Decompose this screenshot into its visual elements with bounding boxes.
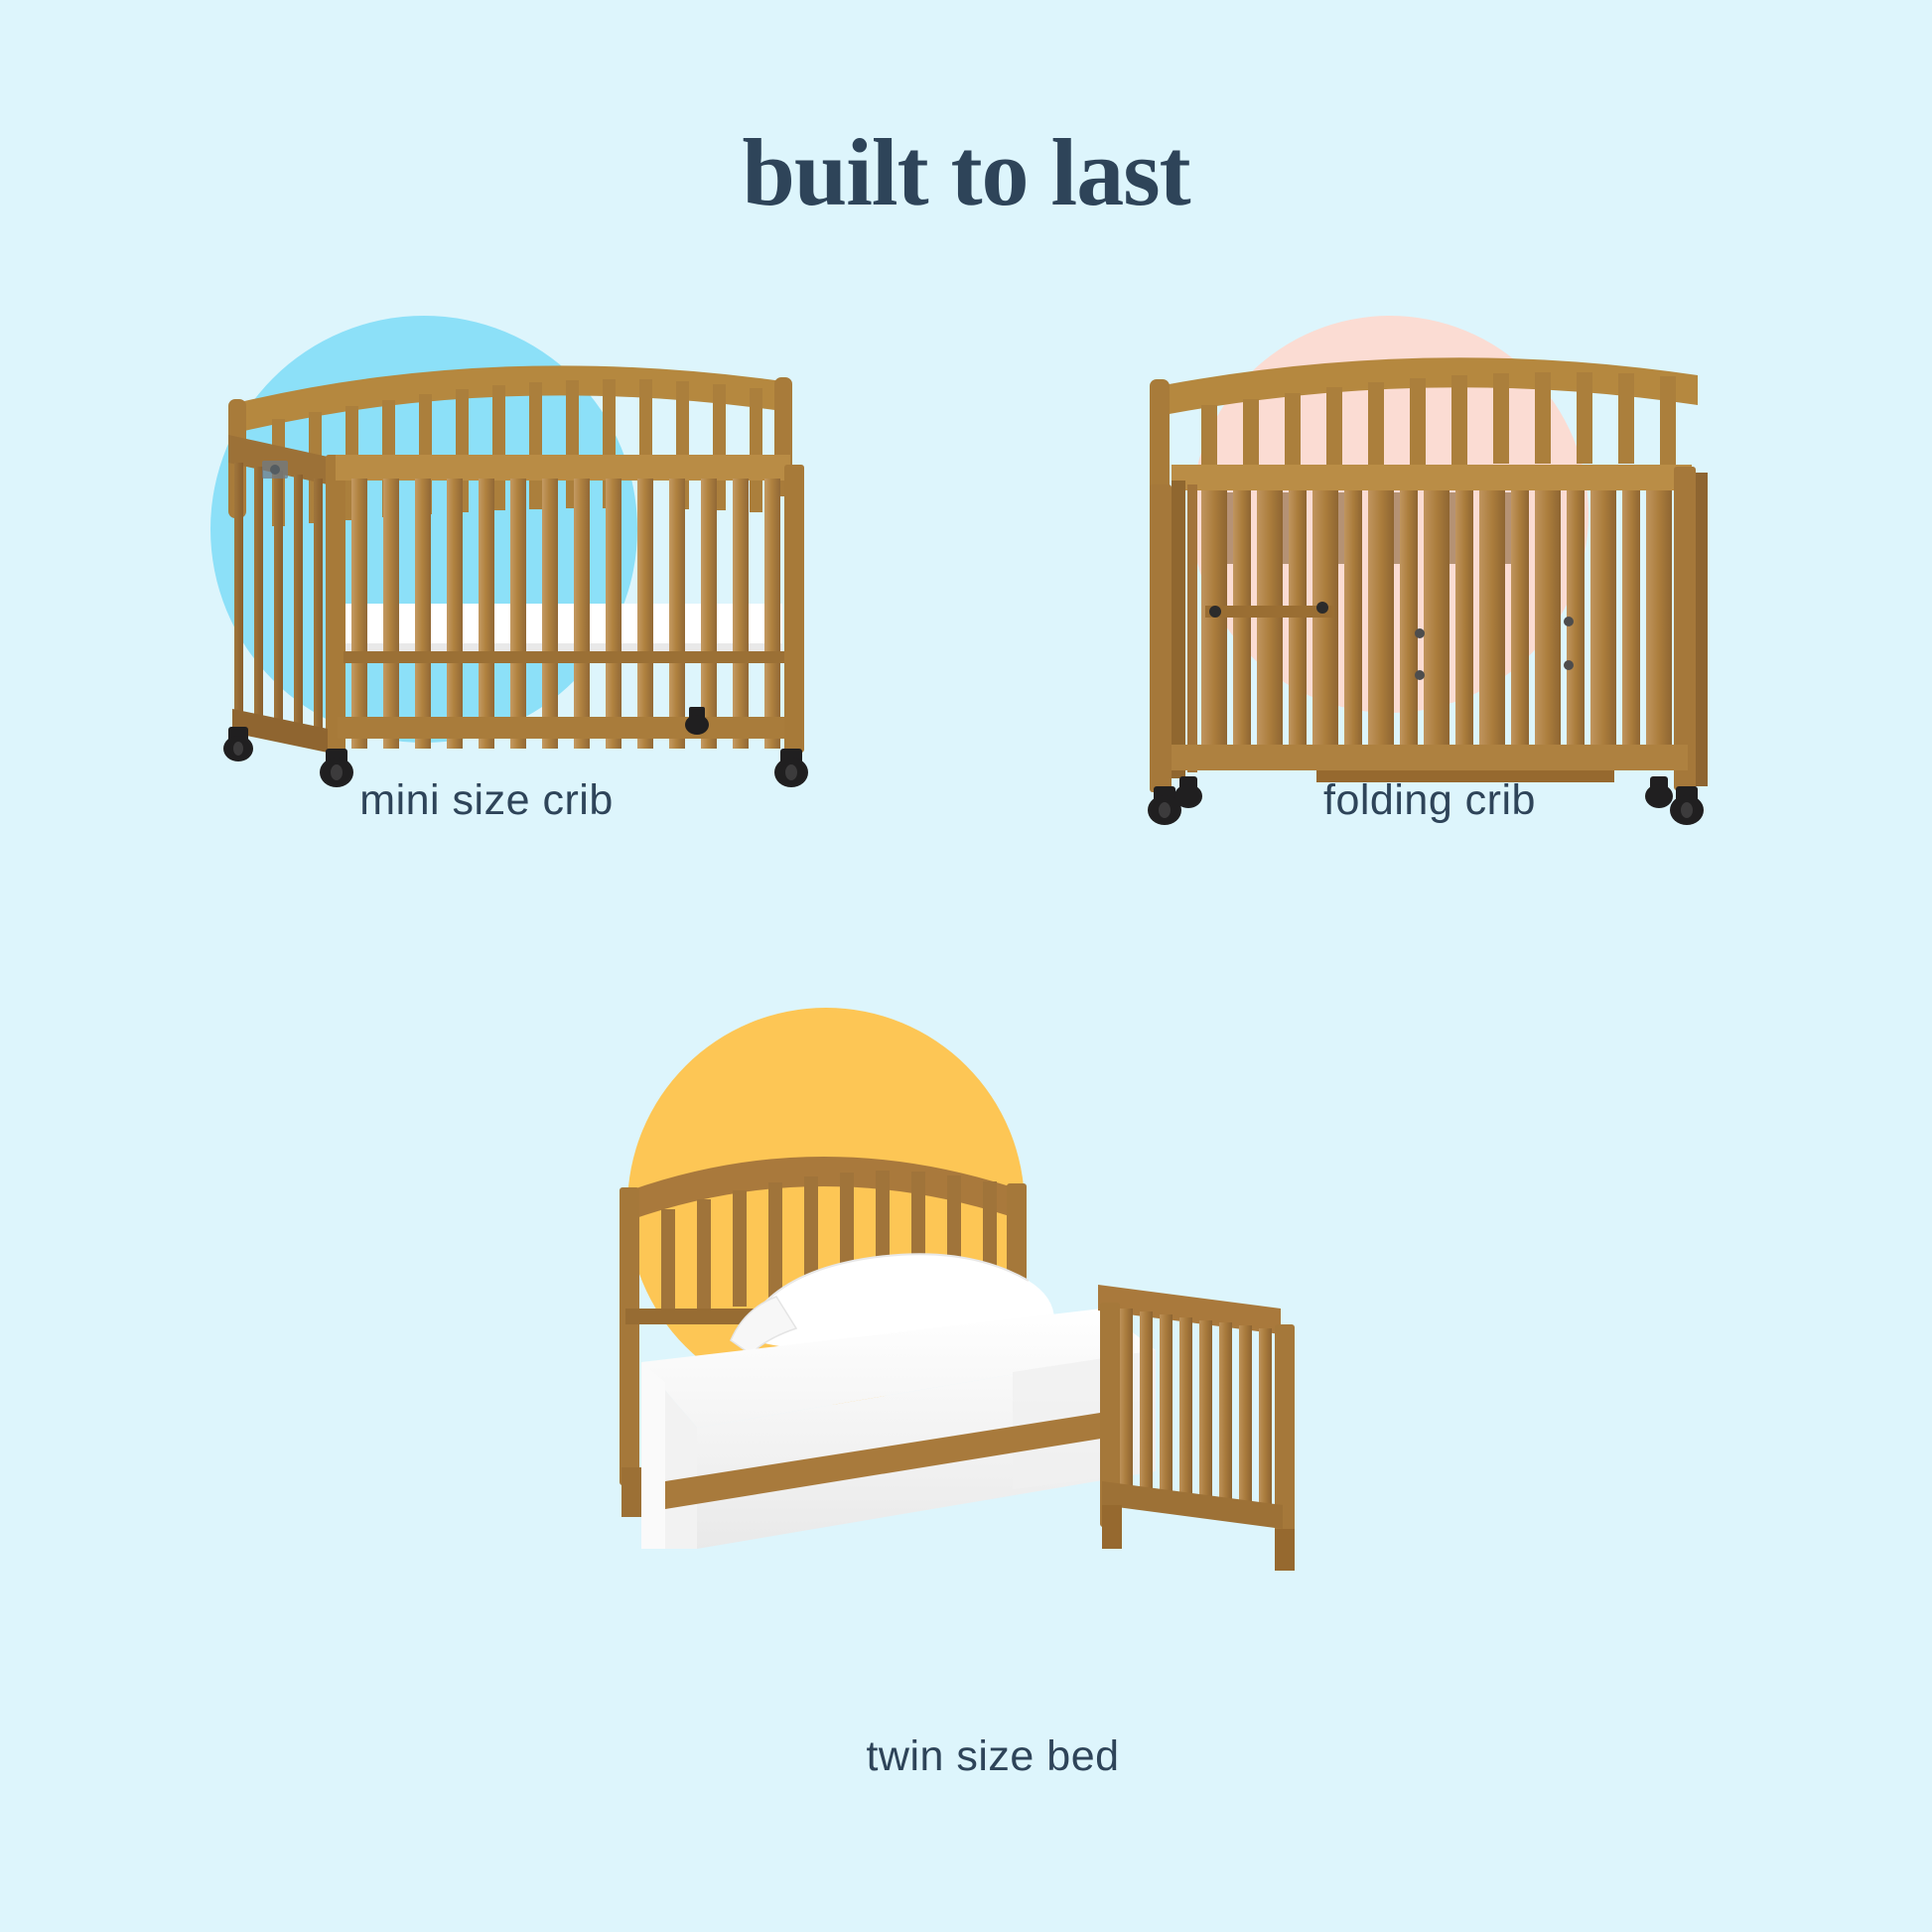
page-title: built to last (0, 125, 1932, 220)
product-stage: folding crib (1112, 298, 1747, 933)
product-card-folding-crib: folding crib (1112, 298, 1747, 933)
product-label-mini-size-crib: mini size crib (169, 776, 804, 825)
infographic-page: built to last (0, 0, 1932, 1932)
product-label-folding-crib: folding crib (1112, 776, 1747, 825)
mini-crib-photo (177, 316, 812, 782)
product-label-twin-size-bed: twin size bed (616, 1732, 1370, 1781)
product-card-twin-size-bed: twin size bed (616, 1102, 1370, 1658)
twin-bed-photo (546, 993, 1301, 1549)
product-card-mini-size-crib: mini size crib (169, 298, 804, 933)
product-stage: twin size bed (616, 1102, 1370, 1658)
product-stage: mini size crib (169, 298, 804, 933)
folding-crib-photo (1102, 318, 1737, 784)
